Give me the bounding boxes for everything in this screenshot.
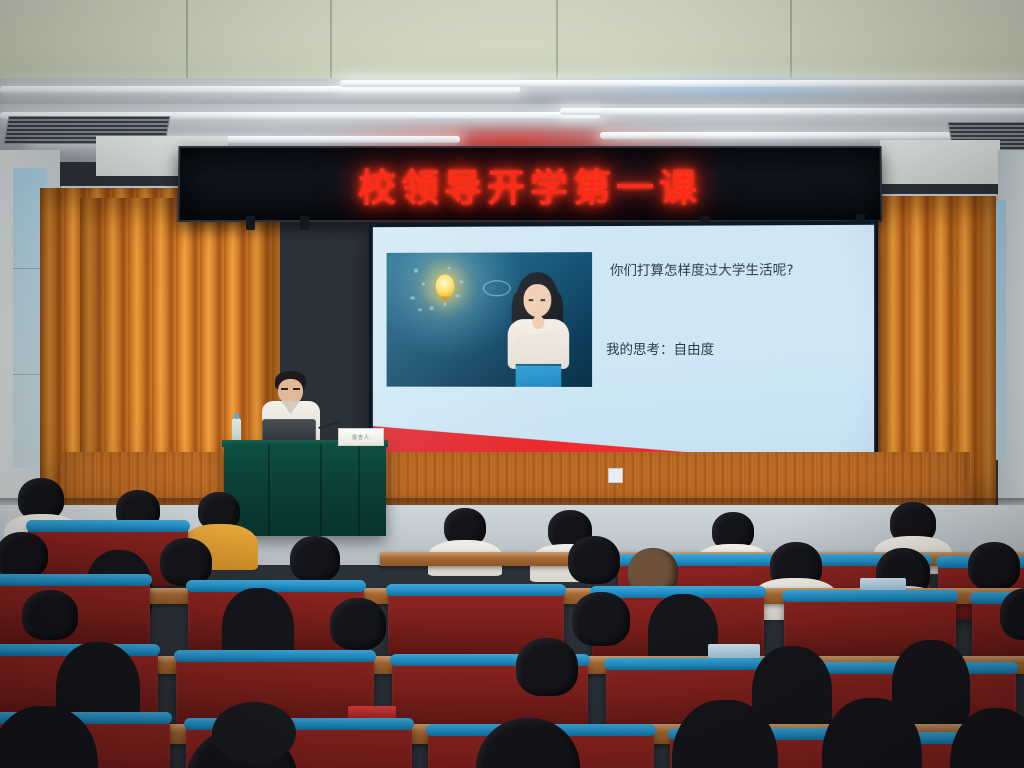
microphone-icon bbox=[318, 421, 340, 429]
ceiling-soffit-right bbox=[880, 140, 1000, 184]
projected-slide: 你们打算怎样度过大学生活呢? 我的思考：自由度 bbox=[373, 225, 874, 467]
projection-screen: 你们打算怎样度过大学生活呢? 我的思考：自由度 bbox=[369, 221, 878, 472]
ceiling-strip-light bbox=[560, 108, 1024, 115]
auditorium-photo: 校领导开学第一课 bbox=[0, 0, 1024, 768]
ceiling-strip-light bbox=[0, 86, 520, 93]
audience-head bbox=[572, 592, 630, 646]
slide-question-text: 你们打算怎样度过大学生活呢? bbox=[610, 258, 794, 279]
banner-mount bbox=[300, 216, 309, 230]
audience-head bbox=[568, 536, 620, 584]
banner-mount bbox=[246, 216, 255, 230]
led-banner: 校领导开学第一课 bbox=[177, 146, 882, 222]
audience-head bbox=[516, 638, 578, 696]
audience-head bbox=[968, 542, 1020, 590]
led-banner-text: 校领导开学第一课 bbox=[358, 157, 702, 212]
ceiling-strip-light bbox=[340, 80, 1024, 87]
audience-head bbox=[290, 536, 340, 582]
slide-person-figure bbox=[503, 272, 574, 387]
ceiling-acoustic-panels bbox=[0, 0, 1024, 80]
hair-bun bbox=[212, 702, 296, 764]
slide-answer-text: 我的思考：自由度 bbox=[606, 338, 714, 358]
desk-device-glow bbox=[860, 578, 906, 590]
speaker-name-card: 报告人 bbox=[338, 428, 384, 446]
lightbulb-icon bbox=[436, 274, 455, 297]
slide-photo-thinking-student bbox=[387, 252, 592, 387]
audience-head bbox=[160, 538, 212, 586]
speaker-name-card-text: 报告人 bbox=[352, 434, 370, 441]
audience-seating bbox=[0, 470, 1024, 768]
audience-head bbox=[22, 590, 78, 640]
audience-head bbox=[0, 532, 48, 578]
audience-head bbox=[330, 598, 386, 650]
desk-device-glow bbox=[708, 644, 760, 658]
